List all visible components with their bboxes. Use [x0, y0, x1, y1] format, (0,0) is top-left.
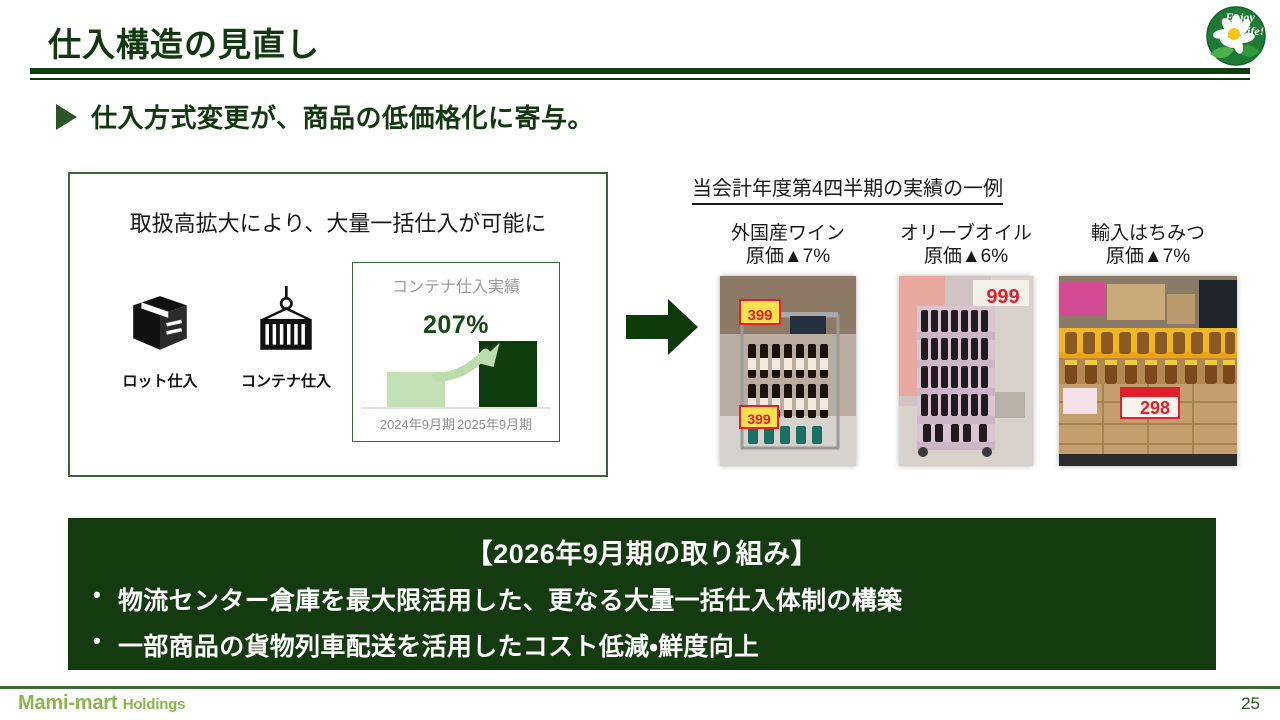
container-purchase-label: コンテナ仕入 [238, 370, 334, 391]
product-name-honey: 輸入はちみつ [1091, 222, 1205, 245]
olive-oil-price-tag: 999 [986, 286, 1019, 308]
product-metric-olive-oil: 原価▲6% [924, 245, 1008, 268]
banner-heading: 【2026年9月期の取り組み】 [90, 532, 1194, 571]
slide-root: 仕入構造の見直し Enjoy Life! 仕入方式変更が、商品の低価格化に [0, 0, 1280, 720]
footer-brand-name: Mami-mart [18, 692, 117, 714]
wine-display-photo: 399 399 [720, 276, 856, 466]
wine-price-tag-2: 399 [747, 411, 771, 427]
chart-x-axis-labels: 2024年9月期 2025年9月期 [357, 414, 555, 433]
supply-structure-box: 取扱高拡大により、大量一括仕入が可能に ロット仕入 [68, 172, 608, 477]
initiatives-banner: 【2026年9月期の取り組み】 • 物流センター倉庫を最大限活用した、更なる大量… [68, 518, 1216, 670]
chart-xlabel-2025: 2025年9月期 [457, 414, 532, 433]
product-photo-row: 外国産ワイン 原価▲7% [700, 222, 1240, 484]
header-rule-thick [30, 68, 1250, 74]
banner-list-item: • 一部商品の貨物列車配送を活用したコスト低減・鮮度向上 [90, 627, 1194, 663]
bullet-dot-icon: • [90, 581, 104, 609]
product-card-wine: 外国産ワイン 原価▲7% [700, 222, 876, 466]
product-metric-wine: 原価▲7% [746, 245, 830, 268]
growth-arrow-icon [361, 341, 551, 409]
logo-text-line1: Enjoy [1224, 10, 1255, 24]
purchase-type-icons: ロット仕入 [112, 286, 334, 391]
banner-item-text-1: 物流センター倉庫を最大限活用した、更なる大量一括仕入体制の構築 [118, 581, 902, 617]
honey-display-photo: 298 [1059, 276, 1237, 466]
right-block-arrow-icon [624, 296, 700, 358]
product-metric-honey: 原価▲7% [1106, 245, 1190, 268]
triangle-bullet-icon [56, 104, 77, 130]
shipping-container-crane-icon [238, 286, 334, 358]
header-rule-thin [30, 78, 1250, 80]
product-card-honey: 輸入はちみつ 原価▲7% [1056, 222, 1240, 466]
product-name-wine: 外国産ワイン [731, 222, 845, 245]
container-purchase-item: コンテナ仕入 [238, 286, 334, 391]
quarter-results-title: 当会計年度第4四半期の実績の一例 [692, 172, 1003, 205]
chart-plot-area [361, 341, 551, 409]
chart-value-label: 207% [353, 311, 559, 340]
honey-price-tag: 298 [1140, 398, 1170, 418]
subtitle-row: 仕入方式変更が、商品の低価格化に寄与。 [56, 98, 594, 135]
page-title: 仕入構造の見直し [48, 18, 320, 66]
product-card-olive-oil: オリーブオイル 原価▲6% [876, 222, 1056, 466]
left-box-heading: 取扱高拡大により、大量一括仕入が可能に [70, 206, 606, 238]
lot-purchase-label: ロット仕入 [112, 370, 208, 391]
footer-rule [0, 686, 1280, 689]
banner-item-text-2: 一部商品の貨物列車配送を活用したコスト低減・鮮度向上 [118, 627, 759, 663]
page-number: 25 [1241, 694, 1260, 714]
subtitle-text: 仕入方式変更が、商品の低価格化に寄与。 [91, 98, 594, 135]
bullet-dot-icon: • [90, 627, 104, 655]
logo-text-line2: Life! [1239, 24, 1265, 38]
cardboard-box-icon [112, 286, 208, 358]
chart-xlabel-2024: 2024年9月期 [380, 414, 455, 433]
product-name-olive-oil: オリーブオイル [900, 222, 1032, 245]
container-purchase-chart: コンテナ仕入実績 207% 2024年9月期 2025年9月期 [352, 262, 560, 442]
enjoy-life-logo: Enjoy Life! [1200, 2, 1272, 74]
olive-oil-display-photo: 999 [899, 276, 1033, 466]
wine-price-tag: 399 [747, 307, 772, 324]
footer-brand-sub: Holdings [123, 696, 186, 713]
chart-title: コンテナ仕入実績 [353, 273, 559, 297]
footer-brand-logo: Mami-mart Holdings [18, 692, 185, 715]
lot-purchase-item: ロット仕入 [112, 286, 208, 391]
banner-list-item: • 物流センター倉庫を最大限活用した、更なる大量一括仕入体制の構築 [90, 581, 1194, 617]
